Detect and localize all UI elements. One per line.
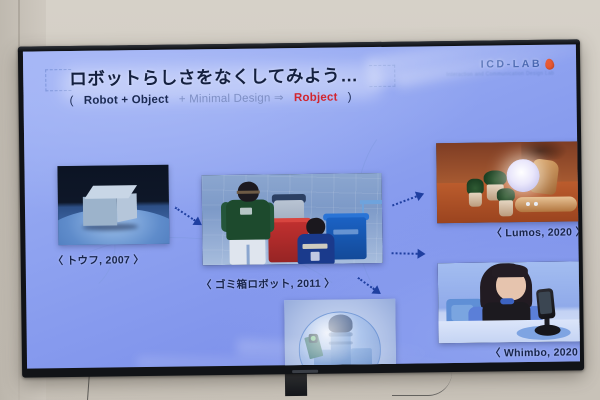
lamp-base xyxy=(515,196,577,212)
project-photo-omboo[interactable] xyxy=(284,299,396,369)
subtitle-formula-part1: Robot + Object xyxy=(84,94,169,107)
project-photo-lumos[interactable] xyxy=(436,141,580,223)
plant-pot xyxy=(469,193,482,207)
person-fringe xyxy=(492,264,528,277)
jersey-number xyxy=(311,252,320,261)
slide-subtitle: ( Robot + Object + Minimal Design ⇒ Robj… xyxy=(69,89,358,107)
presentation-slide: ロボットらしさをなくしてみよう… ( Robot + Object + Mini… xyxy=(23,44,580,368)
caption-gomibako: 〈 ゴミ箱ロボット, 2011 〉 xyxy=(201,276,335,293)
subtitle-keyword: Robject xyxy=(294,92,338,105)
logo-row: ICD-LAB xyxy=(446,58,554,71)
shirt-print xyxy=(240,208,252,215)
lamp-button xyxy=(526,202,530,206)
wall-decoration xyxy=(521,141,567,160)
subtitle-formula-part2: + Minimal Design ⇒ xyxy=(179,92,284,105)
subtitle-open-paren: ( xyxy=(69,95,73,107)
flow-arrow-tofu-to-gomibako xyxy=(176,207,203,225)
phone-screen xyxy=(538,291,552,314)
cube-top-face xyxy=(84,185,137,199)
project-photo-gomibako[interactable] xyxy=(202,173,383,265)
person-collar xyxy=(500,298,514,304)
slide-title: ロボットらしさをなくしてみよう… xyxy=(69,62,358,91)
tv-brand-logo xyxy=(292,370,318,373)
jersey-name-print xyxy=(302,244,327,249)
cube-front-face xyxy=(83,196,117,225)
child-shirt xyxy=(226,199,271,240)
flame-icon xyxy=(544,58,555,70)
logo-text: ICD-LAB xyxy=(481,58,543,71)
caption-lumos: 〈 Lumos, 2020 〉 xyxy=(491,224,580,240)
flow-arrow-gomibako-to-whimbo xyxy=(392,252,426,253)
tv-screen[interactable]: ロボットらしさをなくしてみよう… ( Robot + Object + Mini… xyxy=(23,44,580,368)
lab-logo: ICD-LAB Interaction and Communication De… xyxy=(446,58,554,78)
subtitle-close-paren: ) xyxy=(348,91,352,103)
child-headband xyxy=(237,191,260,194)
caption-whimbo: 〈 Whimbo, 2020 〉 xyxy=(490,344,580,360)
trashbin-blue-label xyxy=(333,229,358,234)
project-photo-whimbo[interactable] xyxy=(438,261,580,343)
child-leg-gap xyxy=(246,245,249,265)
plant-pot xyxy=(499,200,513,216)
project-photo-tofu[interactable] xyxy=(57,165,169,245)
lamp-button xyxy=(534,202,538,206)
title-block: ロボットらしさをなくしてみよう… ( Robot + Object + Mini… xyxy=(69,62,359,107)
television[interactable]: ロボットらしさをなくしてみよう… ( Robot + Object + Mini… xyxy=(18,39,584,377)
logo-tagline: Interaction and Communication Design Lab xyxy=(446,71,554,78)
caption-tofu: 〈 トウフ, 2007 〉 xyxy=(53,252,145,268)
